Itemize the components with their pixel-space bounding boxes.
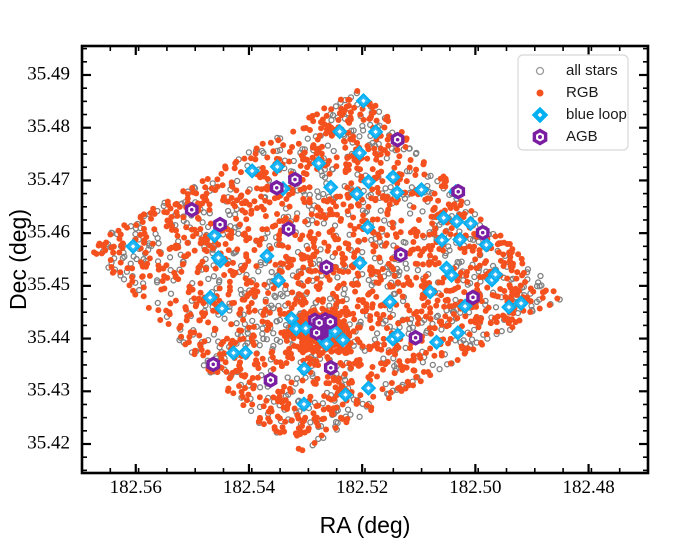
data-point xyxy=(313,381,319,387)
data-point xyxy=(233,216,239,222)
data-point xyxy=(236,311,242,317)
data-point xyxy=(468,208,474,214)
data-point xyxy=(116,249,122,255)
x-tick-label: 182.50 xyxy=(449,477,501,498)
data-point xyxy=(142,230,148,236)
data-point xyxy=(441,304,447,310)
data-point xyxy=(390,266,396,272)
data-point xyxy=(494,328,500,334)
data-point xyxy=(366,278,371,283)
data-point xyxy=(166,321,172,327)
data-point xyxy=(110,250,116,256)
data-point xyxy=(369,305,375,311)
data-point xyxy=(495,294,501,300)
data-point xyxy=(342,350,348,356)
data-point xyxy=(239,389,245,395)
data-point xyxy=(449,303,455,309)
data-point xyxy=(278,330,284,336)
data-point xyxy=(196,333,202,339)
data-point xyxy=(225,291,231,297)
data-point xyxy=(501,260,507,266)
data-point xyxy=(307,258,313,264)
data-point xyxy=(372,103,378,109)
data-point xyxy=(148,216,154,222)
data-point xyxy=(377,235,383,241)
data-point xyxy=(300,417,306,423)
data-point xyxy=(386,350,392,356)
data-point xyxy=(446,201,452,207)
data-point xyxy=(110,270,116,276)
data-point xyxy=(297,347,303,353)
data-point xyxy=(367,313,373,319)
data-point xyxy=(430,362,435,367)
data-point xyxy=(215,184,221,190)
data-point xyxy=(234,246,240,252)
data-point xyxy=(495,314,501,320)
data-point xyxy=(243,254,249,260)
y-tick-label: 35.46 xyxy=(27,222,70,243)
data-point xyxy=(315,136,321,142)
data-point xyxy=(507,241,513,247)
data-point xyxy=(197,280,203,286)
data-point xyxy=(297,299,303,305)
data-point xyxy=(340,402,346,408)
data-point xyxy=(444,323,450,329)
data-point xyxy=(290,335,296,341)
data-point xyxy=(228,321,234,327)
data-point xyxy=(384,232,390,238)
data-point xyxy=(173,274,179,280)
data-point xyxy=(271,331,276,336)
data-point xyxy=(412,226,418,232)
data-point xyxy=(369,110,375,116)
data-point xyxy=(421,303,427,309)
data-point xyxy=(168,291,173,296)
data-point xyxy=(448,231,454,237)
y-tick-label: 35.42 xyxy=(27,432,70,453)
data-point xyxy=(344,192,350,198)
data-point xyxy=(334,154,340,160)
data-point xyxy=(202,194,208,200)
data-point xyxy=(173,298,179,304)
data-point xyxy=(515,251,521,257)
data-point xyxy=(306,268,312,274)
data-point xyxy=(478,217,484,223)
data-point xyxy=(377,109,382,114)
data-point xyxy=(472,256,478,262)
data-point xyxy=(370,242,376,248)
data-point xyxy=(257,238,263,244)
data-point xyxy=(202,338,208,344)
data-point xyxy=(328,349,334,355)
data-point xyxy=(346,103,352,109)
data-point xyxy=(300,196,306,202)
data-point xyxy=(144,261,150,267)
data-point xyxy=(354,140,360,146)
data-point xyxy=(341,291,346,296)
data-point xyxy=(427,253,433,259)
data-point xyxy=(346,97,352,103)
data-point xyxy=(369,325,375,331)
data-point xyxy=(249,300,255,306)
data-point xyxy=(474,265,480,271)
data-point xyxy=(191,329,197,335)
data-point xyxy=(316,195,321,200)
data-point xyxy=(504,275,510,281)
data-point xyxy=(398,218,404,224)
data-point xyxy=(321,221,326,226)
data-point xyxy=(370,166,376,172)
data-point xyxy=(501,240,507,246)
data-point xyxy=(408,211,413,216)
data-point xyxy=(151,226,157,232)
data-point xyxy=(538,274,543,279)
data-point xyxy=(302,339,308,345)
data-point xyxy=(398,229,404,235)
data-point xyxy=(315,423,321,429)
data-point xyxy=(250,318,255,323)
data-point xyxy=(174,201,180,207)
data-point xyxy=(133,222,139,228)
data-point xyxy=(416,217,422,223)
data-point xyxy=(341,262,347,268)
data-point xyxy=(471,244,477,250)
data-point xyxy=(184,314,190,320)
data-point xyxy=(146,305,152,311)
data-point xyxy=(351,105,357,111)
data-point xyxy=(107,232,113,238)
data-point xyxy=(242,198,248,204)
data-point xyxy=(355,304,361,310)
data-point xyxy=(411,311,417,317)
data-point xyxy=(302,430,308,436)
data-point xyxy=(268,140,274,146)
data-point xyxy=(437,367,442,372)
data-point xyxy=(314,111,320,117)
data-point xyxy=(232,160,238,166)
data-point xyxy=(518,282,524,288)
data-point xyxy=(270,354,276,360)
data-point xyxy=(285,244,291,250)
data-point xyxy=(253,151,259,157)
data-point xyxy=(314,213,320,219)
data-point xyxy=(236,383,242,389)
data-point xyxy=(312,268,318,274)
data-point xyxy=(239,266,245,272)
data-point xyxy=(253,351,259,357)
data-point xyxy=(200,178,206,184)
data-point xyxy=(178,269,184,275)
data-point xyxy=(258,204,264,210)
data-point xyxy=(348,114,354,120)
data-point xyxy=(488,320,494,326)
data-point xyxy=(331,375,337,381)
data-point xyxy=(161,209,167,215)
data-point xyxy=(306,233,312,239)
data-point xyxy=(325,405,331,411)
data-point xyxy=(157,317,163,323)
data-point xyxy=(392,351,398,357)
data-point xyxy=(231,300,237,306)
data-point xyxy=(413,275,419,281)
data-point xyxy=(355,201,361,207)
data-point xyxy=(321,240,327,246)
data-point xyxy=(326,158,332,164)
data-point xyxy=(322,215,328,221)
data-point xyxy=(377,274,383,280)
data-point xyxy=(180,262,186,268)
data-point xyxy=(150,241,156,247)
data-point xyxy=(494,319,500,325)
data-point xyxy=(257,343,262,348)
data-point xyxy=(226,233,232,239)
data-point xyxy=(453,297,458,302)
data-point xyxy=(181,235,187,241)
data-point xyxy=(380,226,386,232)
data-point xyxy=(387,314,393,320)
data-point xyxy=(201,363,206,368)
data-point xyxy=(230,260,236,266)
data-point xyxy=(299,423,305,429)
legend-label: all stars xyxy=(566,62,618,79)
data-point xyxy=(479,342,485,348)
data-point xyxy=(141,293,147,299)
data-point xyxy=(345,241,351,247)
data-point xyxy=(423,350,429,356)
data-point xyxy=(269,270,274,275)
data-point xyxy=(376,280,382,286)
data-point xyxy=(432,205,438,211)
data-point xyxy=(508,263,514,269)
data-point xyxy=(509,246,515,252)
data-point xyxy=(156,249,162,255)
data-point xyxy=(530,289,536,295)
data-point xyxy=(310,349,316,355)
data-point xyxy=(438,176,444,182)
data-point xyxy=(404,365,410,371)
data-point xyxy=(396,288,402,294)
data-point xyxy=(390,283,396,289)
data-point xyxy=(152,211,158,217)
data-point xyxy=(315,231,321,237)
data-point xyxy=(474,282,480,288)
data-point xyxy=(465,200,470,205)
data-point xyxy=(324,354,330,360)
data-point xyxy=(223,165,229,171)
data-point xyxy=(325,143,330,148)
data-point xyxy=(400,294,406,300)
data-point xyxy=(239,372,245,378)
data-point xyxy=(364,143,370,149)
data-point xyxy=(444,288,450,294)
data-point xyxy=(537,306,543,312)
data-point xyxy=(365,292,371,298)
data-point xyxy=(309,211,315,217)
data-point xyxy=(350,215,356,221)
y-tick-label: 35.49 xyxy=(27,63,70,84)
data-point xyxy=(327,171,333,177)
data-point xyxy=(226,247,232,253)
data-point xyxy=(252,361,258,367)
data-point xyxy=(357,112,363,118)
data-point xyxy=(343,161,349,167)
data-point xyxy=(432,255,438,261)
data-point xyxy=(366,116,372,122)
data-point xyxy=(273,262,279,268)
data-point xyxy=(468,265,474,271)
data-point xyxy=(283,282,289,288)
data-point xyxy=(315,205,321,211)
data-point xyxy=(339,112,345,118)
data-point xyxy=(202,184,208,190)
data-point xyxy=(206,202,212,208)
data-point xyxy=(155,300,160,305)
data-point xyxy=(433,303,439,309)
data-point xyxy=(314,415,320,421)
data-point xyxy=(464,279,470,285)
data-point xyxy=(260,312,266,318)
data-point xyxy=(372,151,378,157)
data-point xyxy=(342,371,348,377)
data-point xyxy=(352,289,358,295)
data-point xyxy=(297,187,303,193)
data-point xyxy=(428,214,434,220)
data-point xyxy=(421,172,427,178)
data-point xyxy=(443,178,449,184)
data-point xyxy=(139,274,145,280)
data-point xyxy=(205,349,211,355)
data-point xyxy=(375,320,381,326)
data-point xyxy=(288,379,294,385)
data-point xyxy=(111,244,117,250)
data-point xyxy=(285,258,291,264)
data-point xyxy=(418,378,424,384)
data-point xyxy=(413,233,419,239)
data-point xyxy=(209,185,215,191)
data-point xyxy=(336,268,342,274)
data-point xyxy=(285,375,290,380)
data-point xyxy=(500,312,506,318)
data-point xyxy=(262,186,268,192)
data-point xyxy=(155,263,161,269)
data-point xyxy=(405,379,411,385)
data-point xyxy=(265,290,271,296)
data-point xyxy=(329,227,335,233)
data-point xyxy=(245,392,251,398)
data-point xyxy=(323,380,329,386)
data-point xyxy=(392,273,398,279)
data-point xyxy=(370,394,376,400)
data-point xyxy=(240,402,246,408)
data-point xyxy=(256,269,261,274)
data-point xyxy=(227,374,233,380)
data-point xyxy=(493,305,498,310)
data-point xyxy=(307,127,313,133)
data-point xyxy=(282,216,288,222)
data-point xyxy=(217,351,223,357)
data-point xyxy=(396,358,402,364)
data-point xyxy=(164,275,170,281)
data-point xyxy=(428,331,434,337)
data-point xyxy=(296,141,302,147)
data-point xyxy=(193,303,199,309)
data-point xyxy=(351,157,357,163)
data-point xyxy=(189,185,195,191)
data-point xyxy=(283,196,289,202)
data-point xyxy=(118,260,124,266)
data-point xyxy=(143,250,149,256)
data-point xyxy=(235,178,240,183)
data-point xyxy=(343,323,349,329)
x-tick-label: 182.48 xyxy=(562,477,614,498)
data-point xyxy=(252,289,258,295)
data-point xyxy=(270,366,276,372)
data-point xyxy=(285,291,290,296)
data-point xyxy=(551,288,557,294)
data-point xyxy=(432,325,438,331)
data-point xyxy=(513,276,519,282)
data-point xyxy=(196,216,202,222)
data-point xyxy=(290,190,296,196)
data-point xyxy=(331,148,336,153)
data-point xyxy=(370,217,376,223)
data-point xyxy=(368,405,374,411)
data-point xyxy=(246,309,252,315)
data-point xyxy=(502,294,508,300)
data-point xyxy=(442,183,448,189)
data-point xyxy=(268,405,274,411)
data-point xyxy=(315,297,321,303)
data-point xyxy=(380,367,386,373)
data-point xyxy=(402,144,408,150)
data-point xyxy=(312,440,318,446)
data-point xyxy=(363,307,369,313)
data-point xyxy=(455,357,461,363)
data-point xyxy=(141,240,147,246)
data-point xyxy=(347,136,353,142)
data-point xyxy=(354,88,360,94)
data-point xyxy=(348,378,354,384)
data-point xyxy=(227,284,233,290)
data-point xyxy=(467,331,473,337)
data-point xyxy=(451,311,457,317)
data-point xyxy=(357,392,363,398)
data-point xyxy=(277,415,283,421)
data-point xyxy=(355,270,361,276)
data-point xyxy=(500,251,506,257)
legend-label: RGB xyxy=(566,84,599,101)
data-point xyxy=(337,193,343,199)
data-point xyxy=(310,252,316,258)
data-point xyxy=(282,419,288,425)
data-point xyxy=(362,237,368,243)
data-point xyxy=(392,370,398,376)
data-point xyxy=(173,227,179,233)
legend-label: blue loop xyxy=(566,106,627,123)
x-tick-label: 182.56 xyxy=(110,477,162,498)
data-point xyxy=(295,280,301,286)
data-point xyxy=(286,158,292,164)
data-point xyxy=(180,214,186,220)
data-point xyxy=(398,388,404,394)
data-point xyxy=(285,264,291,270)
data-point xyxy=(395,160,401,166)
data-point xyxy=(196,296,202,302)
data-point xyxy=(390,225,396,231)
data-point xyxy=(314,276,320,282)
data-point xyxy=(442,229,448,235)
data-point xyxy=(205,319,211,325)
